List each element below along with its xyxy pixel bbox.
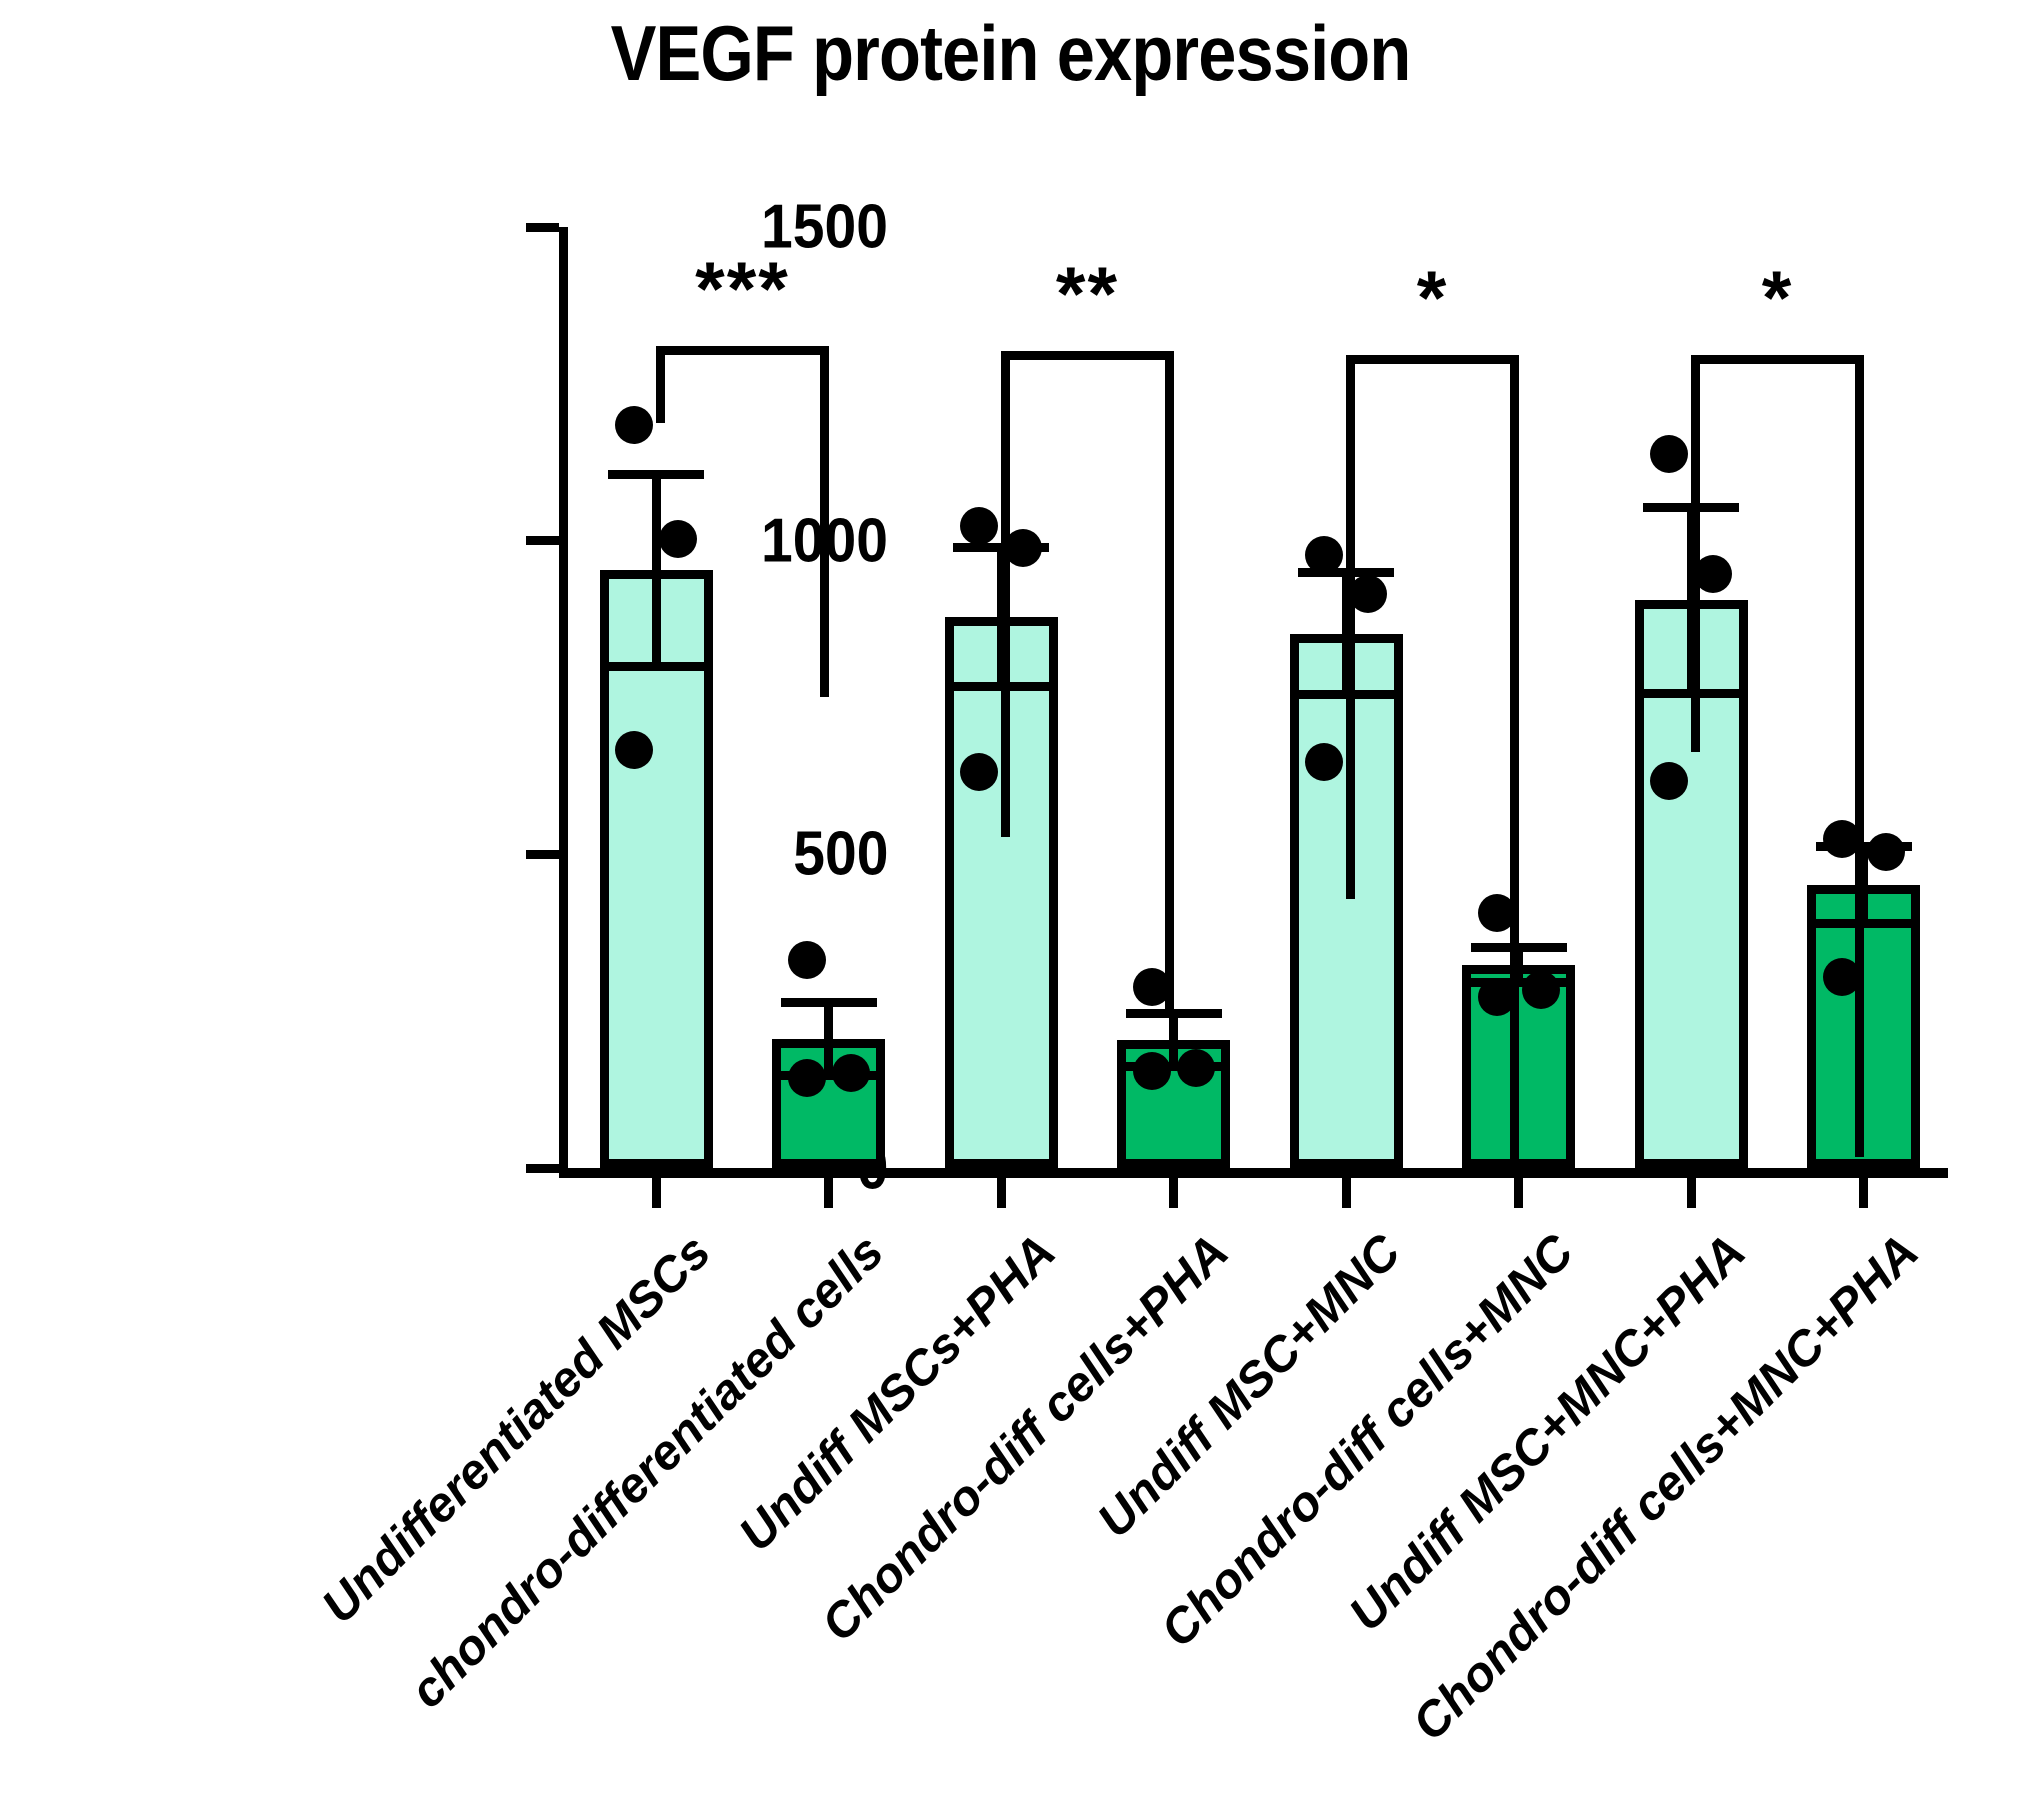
data-point-0-0	[615, 406, 653, 444]
x-tick-7	[1859, 1178, 1868, 1208]
error-bar-line-3	[1169, 1013, 1178, 1067]
data-point-3-2	[1133, 1052, 1171, 1090]
data-point-4-0	[1305, 536, 1343, 574]
significance-bracket-bar-0	[656, 346, 829, 355]
significance-bracket-bar-3	[1691, 355, 1864, 364]
y-tick-500	[526, 850, 559, 859]
error-bar-cap-0-lower	[608, 662, 704, 671]
data-point-1-1	[832, 1054, 870, 1092]
data-point-6-2	[1650, 762, 1688, 800]
data-point-4-2	[1305, 743, 1343, 781]
data-point-1-0	[788, 941, 826, 979]
y-tick-1500	[526, 223, 559, 232]
x-tick-3	[1169, 1178, 1178, 1208]
error-bar-cap-0-upper	[608, 470, 704, 479]
x-tick-4	[1342, 1178, 1351, 1208]
data-point-5-1	[1522, 971, 1560, 1009]
x-axis-line	[559, 1168, 1948, 1178]
x-tick-2	[997, 1178, 1006, 1208]
error-bar-cap-5-upper	[1471, 943, 1567, 952]
significance-bracket-bar-2	[1346, 355, 1519, 364]
error-bar-line-0	[652, 474, 661, 666]
data-point-3-1	[1177, 1049, 1215, 1087]
x-tick-5	[1514, 1178, 1523, 1208]
error-bar-line-1	[824, 1002, 833, 1075]
x-axis-label-4: Undiff MSC+MNC	[1087, 1224, 1412, 1549]
data-point-6-0	[1650, 435, 1688, 473]
significance-bracket-right-arm-0	[820, 346, 829, 697]
data-point-0-1	[659, 520, 697, 558]
error-bar-cap-3-upper	[1126, 1009, 1222, 1018]
chart-title: VEGF protein expression	[121, 8, 1899, 99]
data-point-0-2	[615, 731, 653, 769]
significance-bracket-left-arm-0	[656, 346, 665, 423]
y-tick-1000	[526, 536, 559, 545]
plot-area: 050010001500 ******* Undifferentiated MS…	[568, 227, 1948, 1168]
error-bar-cap-1-upper	[781, 998, 877, 1007]
vegf-bar-chart-figure: VEGF protein expression 050010001500 ***…	[0, 0, 2021, 1795]
error-bar-cap-7-lower	[1816, 919, 1912, 928]
significance-bracket-right-arm-3	[1855, 355, 1864, 1157]
significance-bracket-right-arm-1	[1165, 351, 1174, 1009]
significance-bracket-left-arm-2	[1346, 355, 1355, 899]
y-tick-0	[526, 1164, 559, 1173]
data-point-1-2	[788, 1059, 826, 1097]
y-axis-line	[559, 227, 568, 1168]
significance-bracket-bar-1	[1001, 351, 1174, 360]
x-tick-6	[1687, 1178, 1696, 1208]
significance-bracket-left-arm-3	[1691, 355, 1700, 752]
x-tick-1	[824, 1178, 833, 1208]
data-point-2-2	[960, 753, 998, 791]
significance-stars-1: **	[1056, 257, 1119, 333]
significance-bracket-left-arm-1	[1001, 351, 1010, 837]
significance-stars-2: *	[1417, 261, 1449, 337]
x-tick-0	[652, 1178, 661, 1208]
y-tick-label-500: 500	[793, 819, 888, 890]
significance-stars-0: ***	[695, 252, 790, 328]
data-point-7-1	[1867, 833, 1905, 871]
significance-bracket-right-arm-2	[1510, 355, 1519, 1172]
x-axis-label-2: Undiff MSCs+PHA	[729, 1224, 1067, 1562]
data-point-2-0	[960, 507, 998, 545]
significance-stars-3: *	[1762, 261, 1794, 337]
